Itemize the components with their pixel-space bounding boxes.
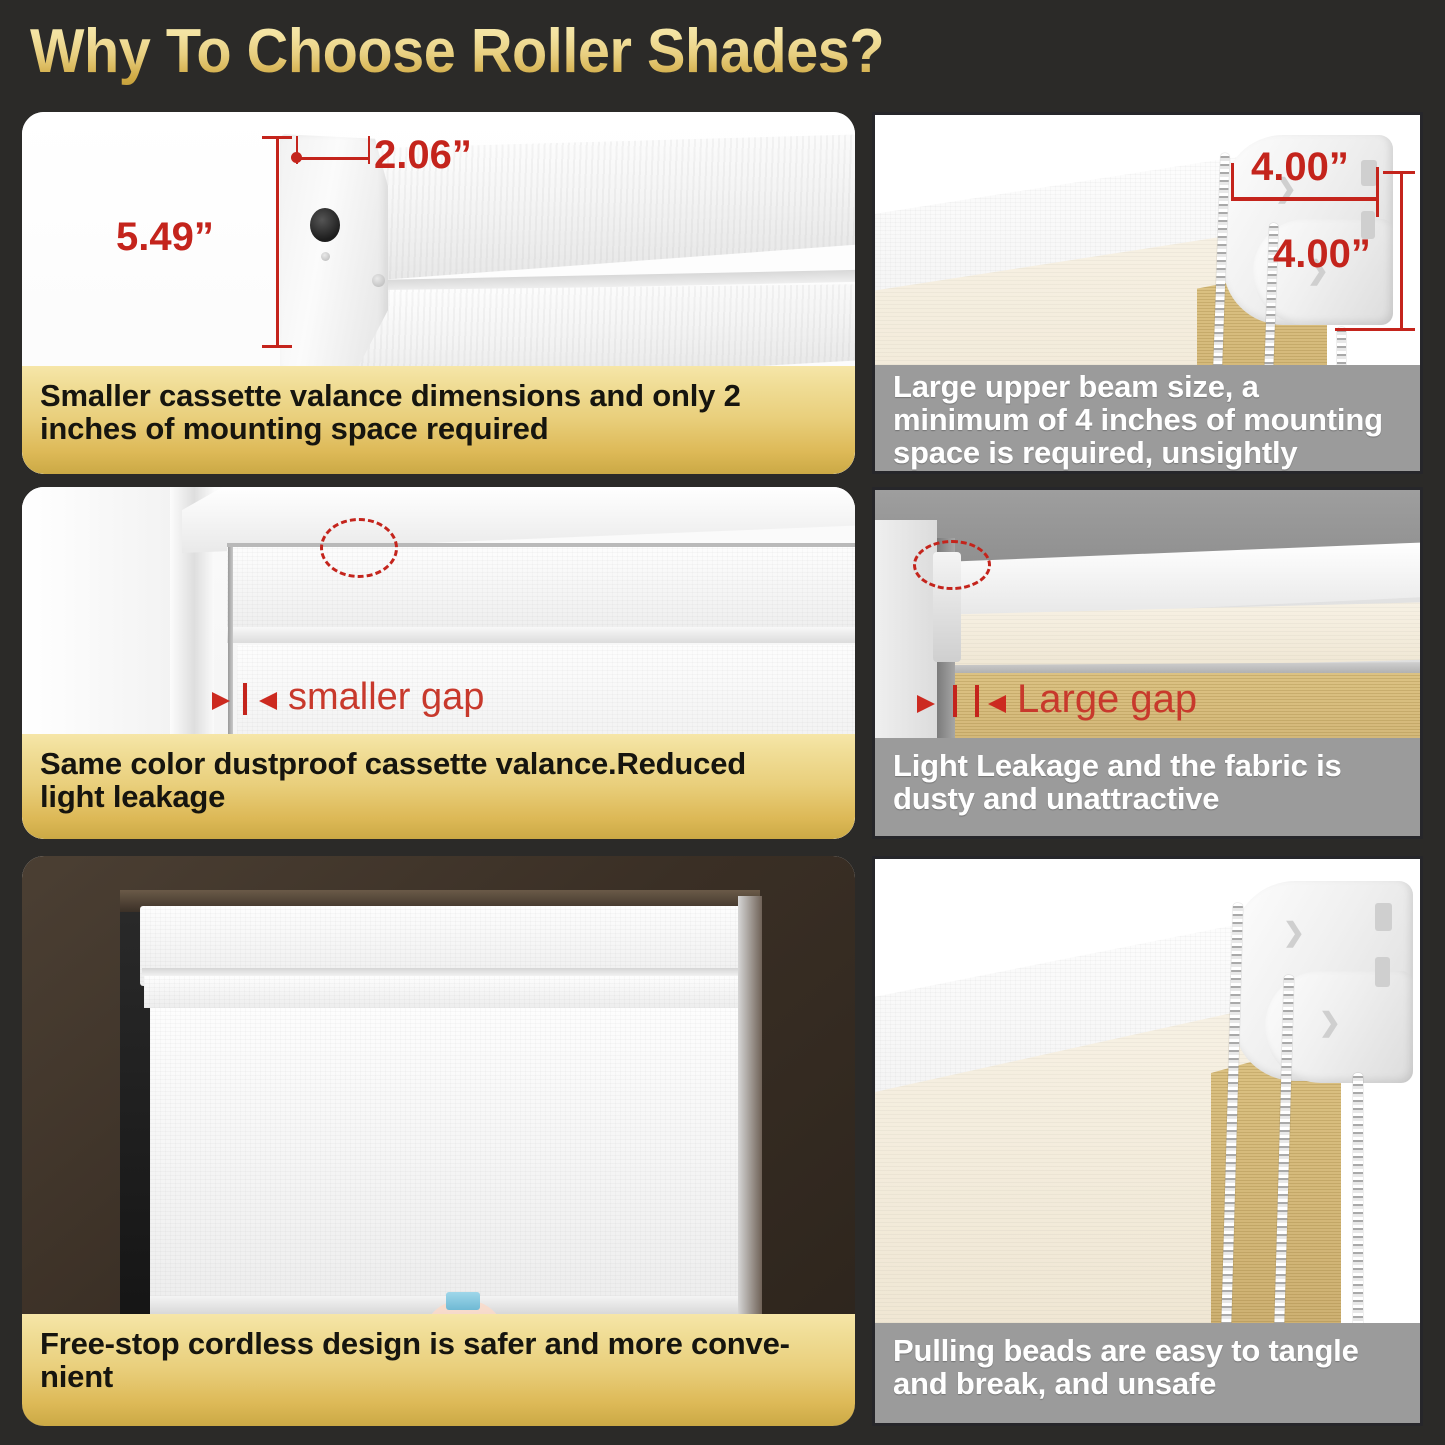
gap-marker-line [243,683,247,715]
valance-screw-upper [372,274,385,287]
caption-line: nient [40,1361,837,1394]
caption-panel-4: Light Leakage and the fabric is dusty an… [875,738,1420,836]
caption-panel-2: Large upper beam size, a minimum of 4 in… [875,365,1420,471]
dim-label-height: 5.49” [116,215,214,260]
panel-large-upper-beam: ❯ ❯ 4.00” 4.00” Large upper beam size, a… [872,112,1423,474]
caption-line: minimum of 4 inches of mounting [893,404,1402,437]
panel-dustproof-cassette: smaller gap Same color dustproof cassett… [22,487,855,839]
dim-vert-cap-top [262,136,292,139]
caption-line: dusty and unattractive [893,783,1402,816]
dim-width-line-2 [1231,197,1379,201]
panel-light-leakage: Large gap Light Leakage and the fabric i… [872,487,1423,839]
caption-panel-5: Free-stop cordless design is safer and m… [22,1314,855,1426]
valance-pin [321,252,330,261]
gap-highlight-circle [320,518,398,578]
caption-line: Same color dustproof cassette valance.Re… [40,748,837,781]
gap-arrow-right-2 [988,695,1006,713]
cassette-valance-front [227,547,855,637]
valance-lift-hole [310,208,340,242]
caption-line: Large upper beam size, a [893,371,1402,404]
gap-marker-line-right [975,685,979,717]
cordless-shade-fabric [150,1008,742,1308]
dim-width-line [296,157,370,160]
caption-line: Free-stop cordless design is safer and m… [40,1328,837,1361]
dim-width-tick-left [1231,163,1234,201]
caption-line: space is required, unsightly [893,437,1402,470]
headrail-lower-lip [144,976,744,1008]
headrail-groove [142,968,742,976]
gap-highlight-circle-2 [913,540,991,590]
dim-vert-cap-top-2 [1383,171,1415,174]
dim-width-tick-right [1376,167,1379,217]
shade-pull-tab [446,1292,480,1310]
gap-arrow-left [212,692,230,710]
dim-vert-cap-bottom-2 [1335,328,1415,331]
gap-marker-line-left [953,685,957,717]
dim-vert-line [276,136,279,348]
bracket-arrow-icon-2: ❯ [1283,917,1305,948]
panel-cordless-design: Free-stop cordless design is safer and m… [22,856,855,1426]
valance-bottom-edge [227,627,855,643]
bracket-slot-top [1361,160,1377,186]
caption-panel-6: Pulling beads are easy to tangle and bre… [875,1323,1420,1423]
gap-arrow-left-2 [917,695,935,713]
bracket-slot-bottom-2 [1375,957,1390,987]
panel-smaller-cassette: 2.06” 5.49” Smaller cassette valance dim… [22,112,855,474]
panel-pulling-beads: ❯ ❯ Pulling beads are easy to tangle and… [872,856,1423,1426]
caption-line: inches of mounting space required [40,413,837,446]
bracket-slot-top-2 [1375,903,1392,931]
caption-line: Smaller cassette valance dimensions and … [40,380,837,413]
comparison-grid: 2.06” 5.49” Smaller cassette valance dim… [0,0,1445,1445]
gap-arrow-right [259,692,277,710]
gap-callout-label-2: Large gap [1017,677,1197,722]
caption-line: Light Leakage and the fabric is [893,750,1402,783]
caption-line: light leakage [40,781,837,814]
caption-panel-3: Same color dustproof cassette valance.Re… [22,734,855,839]
bead-chain-rear-2 [1353,1073,1363,1337]
gap-callout-label: smaller gap [288,676,484,719]
dim-label-height-2: 4.00” [1273,232,1371,277]
dim-vert-cap-bottom [262,345,292,348]
dim-vert-line-2 [1400,171,1403,331]
caption-panel-1: Smaller cassette valance dimensions and … [22,366,855,474]
caption-line: and break, and unsafe [893,1368,1402,1401]
dim-label-width: 2.06” [374,133,472,178]
valance-end-cap [280,134,388,372]
bracket-arrow-icon-2-lower: ❯ [1319,1007,1341,1038]
caption-line: Pulling beads are easy to tangle [893,1335,1402,1368]
dim-label-width-2: 4.00” [1251,145,1349,190]
dim-origin-dot [291,152,302,163]
